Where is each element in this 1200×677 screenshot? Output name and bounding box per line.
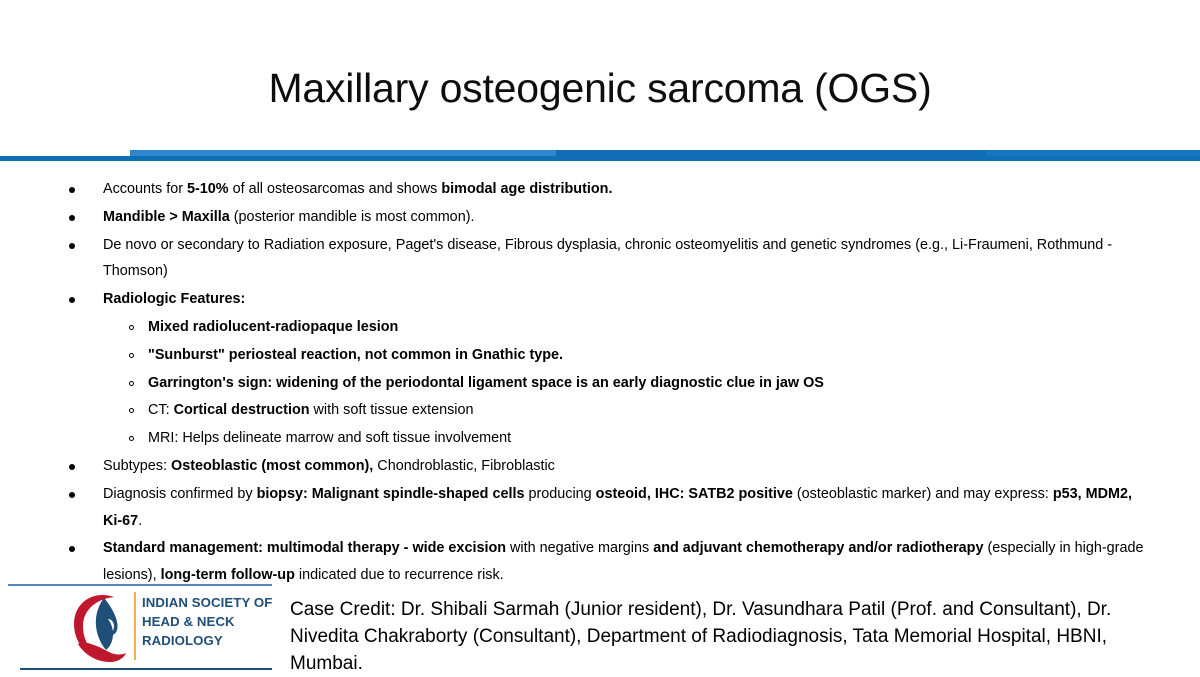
bullet-text: Diagnosis confirmed by biopsy: Malignant… [103, 486, 1132, 529]
content-bullet-list: Accounts for 5-10% of all osteosarcomas … [0, 176, 1200, 590]
bullet-text: Subtypes: Osteoblastic (most common), Ch… [103, 458, 555, 474]
bullet-item: Accounts for 5-10% of all osteosarcomas … [0, 176, 1200, 203]
bullet-text: Mandible > Maxilla (posterior mandible i… [103, 209, 474, 225]
bullet-text: Garrington's sign: widening of the perio… [148, 375, 824, 391]
sub-bullet-item: "Sunburst" periosteal reaction, not comm… [0, 342, 1200, 369]
bullet-text: MRI: Helps delineate marrow and soft tis… [148, 430, 511, 446]
bullet-text: Mixed radiolucent-radiopaque lesion [148, 319, 398, 335]
bullet-item: De novo or secondary to Radiation exposu… [0, 232, 1200, 286]
footer-rule-top [8, 584, 272, 586]
bullet-text: De novo or secondary to Radiation exposu… [103, 237, 1112, 280]
bullet-item: Mandible > Maxilla (posterior mandible i… [0, 204, 1200, 231]
footer-logo-block: INDIAN SOCIETY OF HEAD & NECK RADIOLOGY [8, 584, 272, 670]
bullet-text: Standard management: multimodal therapy … [103, 540, 1143, 583]
sub-bullet-item: Garrington's sign: widening of the perio… [0, 370, 1200, 397]
case-credit-text: Case Credit: Dr. Shibali Sarmah (Junior … [290, 596, 1170, 677]
page-title: Maxillary osteogenic sarcoma (OGS) [0, 62, 1200, 114]
bullet-text: "Sunburst" periosteal reaction, not comm… [148, 347, 563, 363]
bullet-item: Standard management: multimodal therapy … [0, 535, 1200, 589]
bullet-item: Diagnosis confirmed by biopsy: Malignant… [0, 481, 1200, 535]
logo-text-line-1: INDIAN SOCIETY OF [142, 593, 274, 612]
logo-vertical-divider [134, 592, 136, 660]
bullet-text: CT: Cortical destruction with soft tissu… [148, 402, 474, 418]
sub-bullet-item: MRI: Helps delineate marrow and soft tis… [0, 425, 1200, 452]
bullet-text: Accounts for 5-10% of all osteosarcomas … [103, 181, 612, 197]
sub-bullet-item: CT: Cortical destruction with soft tissu… [0, 397, 1200, 424]
divider-base-line [0, 156, 1200, 161]
society-logo-icon [70, 592, 132, 664]
sub-bullet-item: Mixed radiolucent-radiopaque lesion [0, 314, 1200, 341]
logo-text-line-3: RADIOLOGY [142, 631, 274, 650]
society-logo-text: INDIAN SOCIETY OF HEAD & NECK RADIOLOGY [142, 593, 274, 650]
title-divider-bar [0, 150, 1200, 161]
bullet-text: Radiologic Features: [103, 291, 245, 307]
logo-text-line-2: HEAD & NECK [142, 612, 274, 631]
footer-rule-bottom [20, 668, 272, 670]
bullet-item: Subtypes: Osteoblastic (most common), Ch… [0, 453, 1200, 480]
bullet-item: Radiologic Features: [0, 286, 1200, 313]
